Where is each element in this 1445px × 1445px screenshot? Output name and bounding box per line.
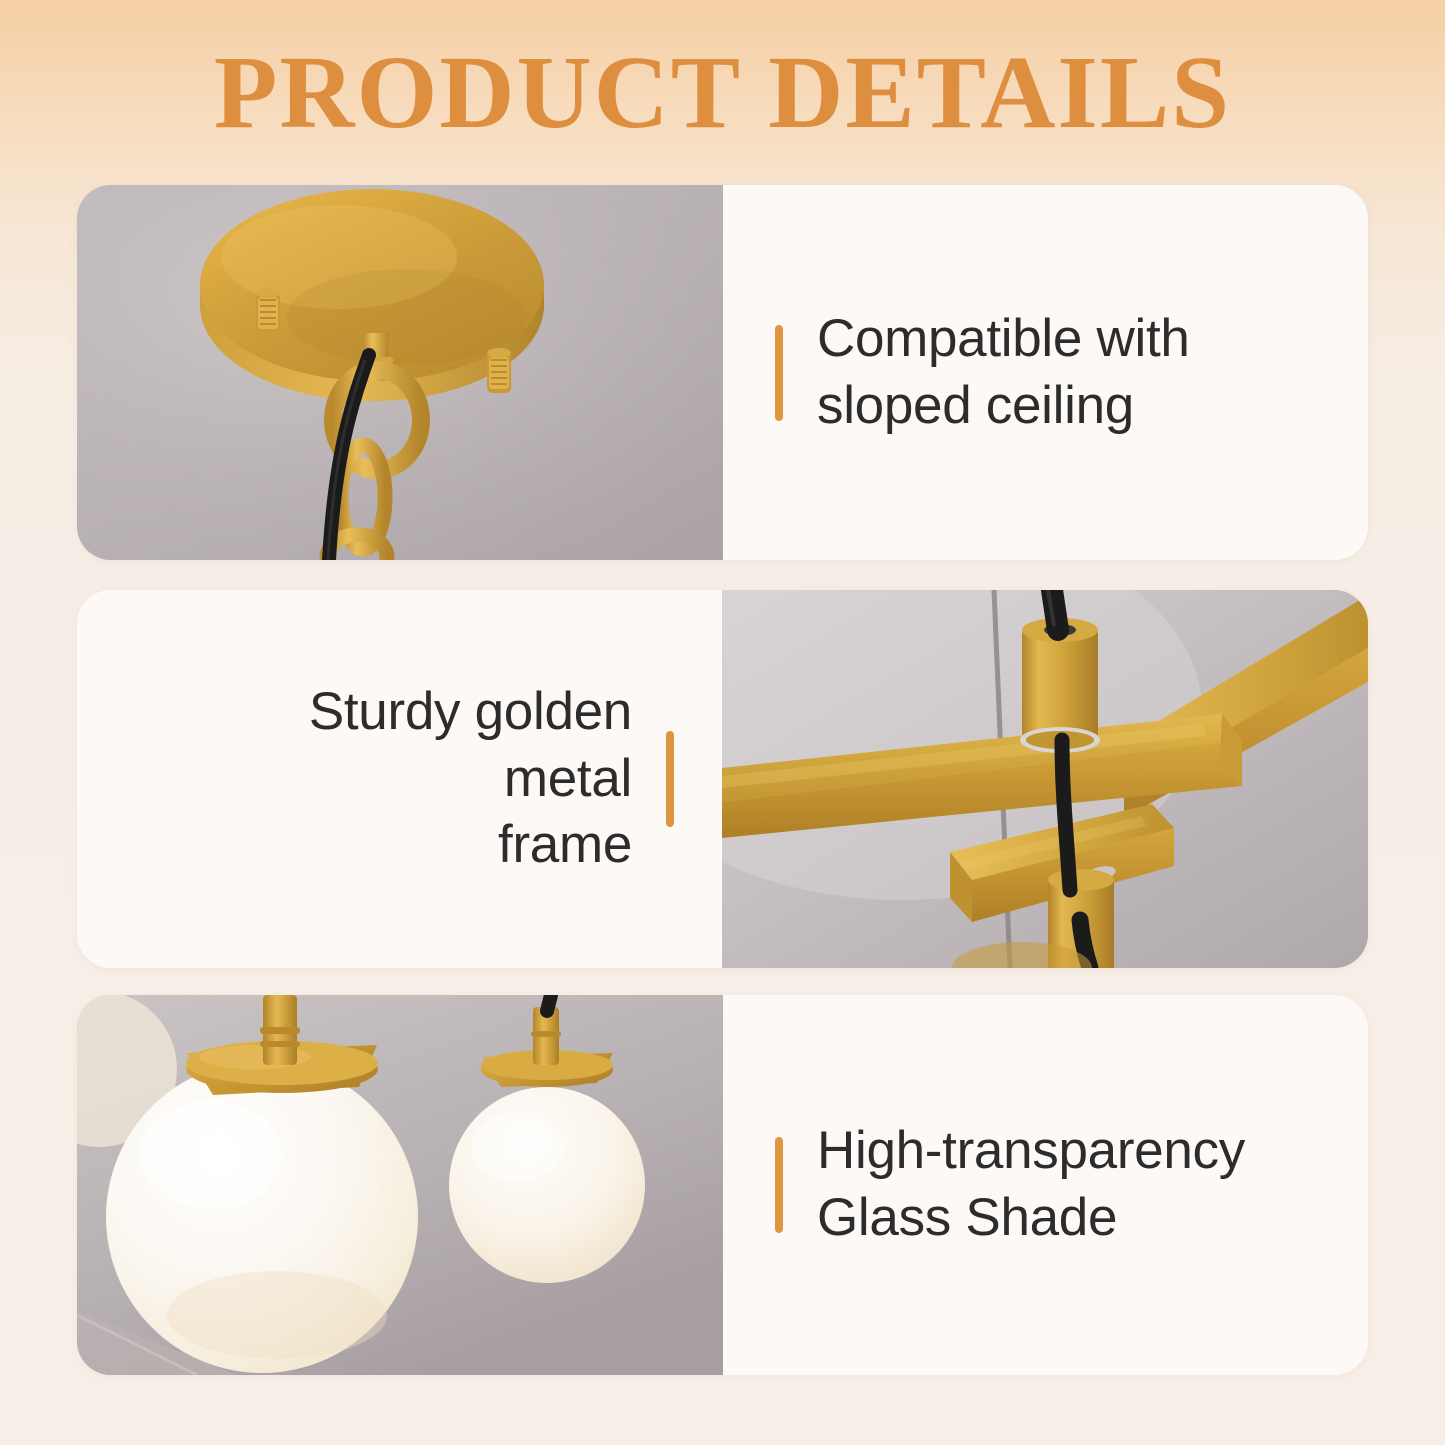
feature-label: High-transparency Glass Shade [817,1118,1245,1252]
feature-label: Compatible with sloped ceiling [817,306,1190,440]
feature-block: Sturdy golden metal frame [172,679,674,879]
feature-line-1: Sturdy golden metal [309,682,632,808]
feature-block: High-transparency Glass Shade [775,1118,1245,1252]
thumbscrew-left [256,288,280,333]
feature-card-sloped-ceiling: Compatible with sloped ceiling [77,185,1368,560]
feature-card-glass-shade: High-transparency Glass Shade [77,995,1368,1375]
page-title: PRODUCT DETAILS [0,38,1445,147]
glass-shade-photo [77,995,723,1375]
metal-frame-photo [722,590,1368,968]
feature-text-panel: Compatible with sloped ceiling [723,185,1368,560]
feature-card-metal-frame: Sturdy golden metal frame [77,590,1368,968]
feature-block: Compatible with sloped ceiling [775,306,1190,440]
ceiling-canopy-photo [77,185,723,560]
accent-bar [775,325,783,421]
feature-line-2: Glass Shade [817,1188,1117,1247]
feature-line-1: High-transparency [817,1121,1245,1180]
feature-text-panel: High-transparency Glass Shade [723,995,1368,1375]
feature-line-2: frame [498,815,632,874]
feature-text-panel: Sturdy golden metal frame [77,590,722,968]
feature-line-1: Compatible with [817,309,1190,368]
accent-bar [775,1137,783,1233]
accent-bar [666,731,674,827]
product-details-infographic: PRODUCT DETAILS [0,0,1445,1445]
feature-line-2: sloped ceiling [817,376,1134,435]
feature-label: Sturdy golden metal frame [172,679,632,879]
thumbscrew-right [487,348,511,393]
